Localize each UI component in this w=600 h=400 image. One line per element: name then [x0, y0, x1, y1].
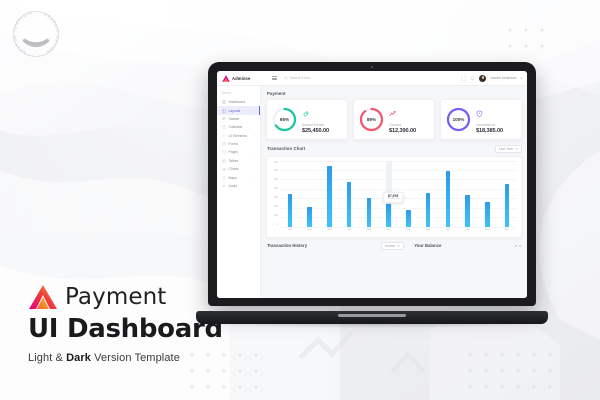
sidebar-item-maps[interactable]: Maps› — [217, 173, 260, 181]
stat-amount: $18,385.00 — [476, 128, 503, 134]
bar-wrapper-Dec[interactable] — [497, 161, 517, 227]
payment-section-title: Payment — [267, 91, 522, 96]
sidebar-item-label: Tables — [229, 159, 239, 163]
calendar-icon — [222, 125, 226, 129]
chart-title: Transaction Chart — [267, 146, 305, 151]
stat-percent: 65% — [272, 107, 297, 132]
sidebar-item-label: Charts — [229, 167, 239, 171]
maps-icon — [222, 176, 226, 180]
sidebar-item-forms[interactable]: Forms — [217, 140, 260, 148]
chevron-right-icon: › — [255, 117, 256, 120]
promo-sub-light: Light & — [28, 352, 66, 364]
chevron-right-icon: › — [255, 134, 256, 137]
bar-Nov[interactable] — [485, 202, 490, 227]
chart-plot: JanFebMarAprMayJunJulAugSepOctNovDec $7,… — [280, 161, 517, 235]
x-tick: Jan — [280, 228, 300, 231]
user-name: James Anderson — [490, 76, 516, 80]
x-tick: Apr — [339, 228, 359, 231]
chevron-down-icon — [515, 148, 518, 150]
laptop-lid: Adminse Search Here... — [208, 62, 536, 306]
promo-subline: Light & Dark Version Template — [28, 352, 248, 364]
app-screen: Adminse Search Here... — [217, 71, 527, 298]
stat-card-2[interactable]: 100%Cancellations$18,385.00 — [440, 99, 522, 140]
bottom-row: Transaction History Income Your Balance — [266, 242, 522, 250]
laptop-mockup: Adminse Search Here... — [196, 62, 548, 324]
x-tick: Aug — [418, 228, 438, 231]
stat-amount: $25,450.00 — [302, 128, 329, 134]
x-tick: Nov — [478, 228, 498, 231]
chevron-right-icon: › — [255, 109, 256, 112]
bar-Apr[interactable] — [347, 182, 352, 226]
promo-sub-rest: Version Template — [91, 352, 180, 364]
your-balance-title: Your Balance — [414, 243, 441, 248]
sidebar-item-charts[interactable]: Charts — [217, 165, 260, 173]
webcam-icon — [371, 66, 373, 68]
sidebar-item-audio[interactable]: Audio — [217, 182, 260, 190]
bar-Jul[interactable] — [406, 210, 411, 226]
forms-icon — [222, 142, 226, 146]
bar-wrapper-Feb[interactable] — [300, 161, 320, 227]
notification-bell-icon[interactable] — [470, 76, 475, 81]
stat-card-0[interactable]: 65%Amount Earned$25,450.00 — [266, 99, 348, 140]
app-brand[interactable]: Adminse — [222, 75, 268, 82]
y-tick: 700 — [274, 162, 278, 164]
y-tick: 400 — [274, 188, 278, 190]
tooltip-label: Transactions — [387, 198, 399, 200]
trend-up-icon — [389, 110, 396, 117]
sidebar-item-pages[interactable]: Pages› — [217, 148, 260, 156]
sidebar-item-calendar[interactable]: Calendar — [217, 123, 260, 131]
sidebar-item-layouts[interactable]: Layouts› — [217, 106, 260, 114]
chart-section-header: Transaction Chart Last Year — [267, 145, 522, 153]
stat-card-1[interactable]: 89%Overdue$12,390.00 — [353, 99, 435, 140]
bar-wrapper-May[interactable] — [359, 161, 379, 227]
sidebar-item-navbar[interactable]: Navbar› — [217, 115, 260, 123]
bar-Oct[interactable] — [465, 195, 470, 226]
hamburger-icon[interactable] — [272, 76, 277, 80]
bar-Feb[interactable] — [307, 207, 312, 227]
x-tick: Jun — [379, 228, 399, 231]
bar-wrapper-Nov[interactable] — [478, 161, 498, 227]
progress-ring-0: 65% — [272, 107, 297, 132]
stat-info: Overdue$12,390.00 — [389, 105, 416, 134]
stat-percent: 89% — [359, 107, 384, 132]
audio-icon — [222, 184, 226, 188]
y-tick: 200 — [274, 206, 278, 208]
sidebar-item-label: Pages — [229, 150, 239, 154]
bar-Dec[interactable] — [505, 184, 510, 226]
svg-text:VECTOR TEMPLATE: VECTOR TEMPLATE — [12, 10, 33, 55]
chevron-right-icon: › — [255, 176, 256, 179]
main-content: Payment 65%Amount Earned$25,450.0089%Ove… — [261, 86, 527, 298]
sidebar-item-label: Calendar — [229, 125, 243, 129]
x-tick: Sep — [438, 228, 458, 231]
y-tick: 600 — [274, 170, 278, 172]
chart-x-axis: JanFebMarAprMayJunJulAugSepOctNovDec — [280, 227, 517, 235]
chart-filter-label: Last Year — [499, 147, 513, 151]
x-tick: May — [359, 228, 379, 231]
bar-wrapper-Oct[interactable] — [458, 161, 478, 227]
sidebar-list: DashboardLayouts›Navbar›CalendarUI Eleme… — [217, 98, 260, 190]
bar-Aug[interactable] — [426, 193, 431, 227]
payment-a-logo-icon — [28, 284, 58, 310]
y-tick: 300 — [274, 197, 278, 199]
y-tick: 0 — [277, 224, 278, 226]
stat-percent: 100% — [446, 107, 471, 132]
expand-icon[interactable] — [461, 76, 466, 81]
watermark-seal: GRAPHIC DESIGN VECTOR TEMPLATE — [8, 6, 64, 62]
search-placeholder: Search Here... — [290, 76, 313, 80]
bar-wrapper-Mar[interactable] — [320, 161, 340, 227]
chevron-right-icon: › — [255, 151, 256, 154]
sidebar-item-tables[interactable]: Tables — [217, 157, 260, 165]
chart-filter-button[interactable]: Last Year — [495, 145, 522, 153]
more-options-icon[interactable] — [515, 245, 521, 247]
chart-y-axis: 7006005004003002001000 — [271, 161, 280, 235]
stat-info: Amount Earned$25,450.00 — [302, 105, 329, 134]
bar-Jun[interactable] — [386, 204, 391, 227]
sidebar-item-label: UI Elements — [229, 134, 247, 138]
chart-tooltip: $7,978 Transactions — [383, 192, 403, 203]
search-input[interactable]: Search Here... — [284, 76, 313, 80]
x-tick: Mar — [320, 228, 340, 231]
y-tick: 500 — [274, 179, 278, 181]
charts-icon — [222, 167, 226, 171]
app-brand-name: Adminse — [232, 76, 250, 81]
sidebar-caption: Menu — [217, 91, 260, 98]
history-filter-label: Income — [385, 244, 395, 248]
ui-elements-icon — [222, 134, 226, 138]
y-tick: 100 — [274, 215, 278, 217]
sidebar-item-label: Audio — [229, 184, 238, 188]
sidebar-item-label: Navbar — [229, 117, 240, 121]
app-topbar: Adminse Search Here... — [217, 71, 527, 86]
chevron-down-icon[interactable]: ▾ — [520, 76, 522, 80]
history-filter-button[interactable]: Income — [381, 242, 404, 250]
topbar-actions: James Anderson ▾ — [461, 75, 522, 82]
stat-label: Amount Earned — [302, 123, 329, 127]
laptop-base — [196, 311, 548, 324]
x-tick: Feb — [300, 228, 320, 231]
navbar-icon — [222, 117, 226, 121]
x-tick: Jul — [399, 228, 419, 231]
svg-text:GRAPHIC DESIGN: GRAPHIC DESIGN — [43, 12, 60, 55]
seal-bottom-text: VECTOR TEMPLATE — [12, 10, 33, 55]
bar-wrapper-Jan[interactable] — [280, 161, 300, 227]
seal-top-text: GRAPHIC DESIGN — [43, 12, 60, 55]
stat-label: Overdue — [389, 123, 416, 127]
rocket-icon — [302, 110, 309, 117]
shield-icon — [476, 110, 483, 117]
sidebar-item-dashboard[interactable]: Dashboard — [217, 98, 260, 106]
bar-Mar[interactable] — [327, 166, 332, 226]
x-tick: Dec — [497, 228, 517, 231]
bar-Sep[interactable] — [446, 171, 451, 227]
layouts-icon — [222, 109, 226, 113]
tooltip-value: $7,978 — [387, 194, 399, 198]
bar-wrapper-Aug[interactable] — [418, 161, 438, 227]
tables-icon — [222, 159, 226, 163]
stat-info: Cancellations$18,385.00 — [476, 105, 503, 134]
sidebar-item-label: Dashboard — [229, 100, 246, 104]
chart-area: 7006005004003002001000 JanFebMarAprMayJu… — [271, 161, 517, 235]
progress-ring-1: 89% — [359, 107, 384, 132]
adminse-logo-icon — [222, 75, 230, 82]
bar-wrapper-Sep[interactable] — [438, 161, 458, 227]
chevron-down-icon — [397, 245, 400, 247]
sidebar: Menu DashboardLayouts›Navbar›CalendarUI … — [217, 86, 261, 298]
x-tick: Oct — [458, 228, 478, 231]
bar-May[interactable] — [367, 198, 372, 226]
dashboard-icon — [222, 100, 226, 104]
bar-wrapper-Apr[interactable] — [339, 161, 359, 227]
sidebar-item-label: Layouts — [229, 109, 241, 113]
pages-icon — [222, 150, 226, 154]
progress-ring-2: 100% — [446, 107, 471, 132]
sidebar-item-label: Forms — [229, 142, 239, 146]
transaction-history-title: Transaction History — [267, 243, 307, 248]
stat-label: Cancellations — [476, 123, 503, 127]
promo-sub-dark: Dark — [66, 352, 91, 364]
stat-cards: 65%Amount Earned$25,450.0089%Overdue$12,… — [266, 99, 522, 140]
stat-amount: $12,390.00 — [389, 128, 416, 134]
user-avatar[interactable] — [479, 75, 486, 82]
promo-brand-word: Payment — [65, 284, 166, 310]
transaction-chart-panel: 7006005004003002001000 JanFebMarAprMayJu… — [266, 156, 522, 238]
sidebar-item-label: Maps — [229, 176, 237, 180]
search-icon — [284, 76, 288, 80]
bar-Jan[interactable] — [288, 194, 293, 226]
sidebar-item-ui-elements[interactable]: UI Elements› — [217, 132, 260, 140]
